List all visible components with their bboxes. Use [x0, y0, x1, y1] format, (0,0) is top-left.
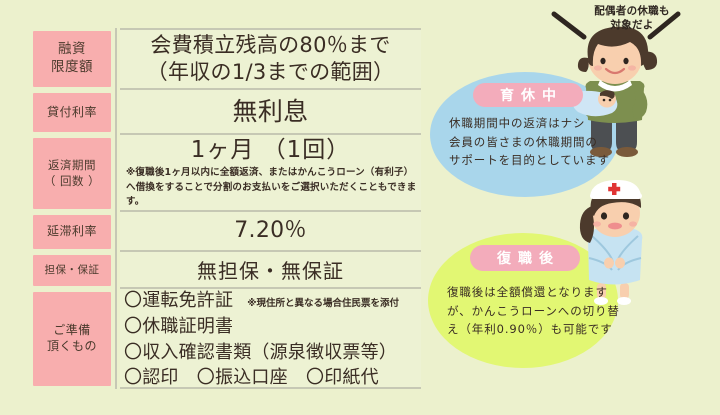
row-label-line: 限度額 [51, 59, 93, 77]
list-item: 〇収入確認書類（源泉徴収票等） [124, 340, 399, 366]
value-line: 無利息 [233, 96, 309, 128]
row-label-loan-limit: 融資 限度額 [33, 31, 111, 87]
row-value-collateral: 無担保・無保証 [120, 252, 421, 289]
table-row-collateral: 担保・保証 無担保・無保証 [33, 252, 421, 289]
badge-ikukyu: 育休中 [473, 83, 583, 107]
column-divider [111, 252, 120, 289]
infographic-canvas: 配偶者の休職も 対象だよ 育休中 復職後 休職期間中の返済はナシ 会員の皆さまの… [0, 0, 720, 415]
list-item: 〇休職証明書 [124, 314, 399, 340]
row-value-repayment-period: 1ヶ月 （1回） ※復職後1ヶ月以内に全額返済、またはかんこうローン（有利子）へ… [120, 135, 421, 212]
table-row-repayment-period: 返済期間 （ 回数 ） 1ヶ月 （1回） ※復職後1ヶ月以内に全額返済、またはか… [33, 135, 421, 212]
badge-fukushoku: 復職後 [470, 245, 580, 271]
fukushoku-line-3: え（年利0.90％）も可能です [447, 320, 647, 339]
value-note: ※復職後1ヶ月以内に全額返済、またはかんこうローン（有利子）へ借換をすることで分… [124, 166, 417, 209]
ikukyu-line-1: 休職期間中の返済はナシ [449, 114, 649, 133]
column-divider [111, 135, 120, 212]
row-label-line: 返済期間 [48, 158, 96, 173]
red-cross-icon [608, 183, 620, 195]
fukushoku-bubble-text: 復職後は全額償還となります が、かんこうローンへの切り替 え（年利0.90％）も… [447, 283, 647, 339]
list-item: 〇認印 〇振込口座 〇印紙代 [124, 365, 399, 391]
callout-line-2: 対象だよ [552, 18, 712, 32]
column-divider [111, 289, 120, 389]
callout-text: 配偶者の休職も 対象だよ [552, 4, 712, 33]
row-label-line: 融資 [58, 41, 86, 59]
table-row-required-documents: ご準備 頂くもの 〇運転免許証※現住所と異なる場合住民票を添付 〇休職証明書 〇… [33, 289, 421, 389]
row-value-required-documents: 〇運転免許証※現住所と異なる場合住民票を添付 〇休職証明書 〇収入確認書類（源泉… [120, 289, 421, 389]
table-row-late-fee: 延滞利率 7.20％ [33, 212, 421, 252]
ikukyu-bubble-text: 休職期間中の返済はナシ 会員の皆さまの休職期間の サポートを目的としています [449, 114, 649, 170]
row-label-line: 担保・保証 [45, 264, 100, 278]
ikukyu-line-3: サポートを目的としています [449, 151, 649, 170]
value-line: 無担保・無保証 [197, 255, 344, 284]
table-row-interest-rate: 貸付利率 無利息 [33, 90, 421, 135]
value-line: （年収の1/3までの範囲） [147, 59, 395, 86]
column-divider [111, 28, 120, 90]
column-divider [111, 212, 120, 252]
row-label-line: 頂くもの [47, 339, 97, 355]
value-line: 7.20％ [234, 217, 307, 245]
row-label-line: 貸付利率 [47, 105, 97, 121]
ikukyu-line-2: 会員の皆さまの休職期間の [449, 133, 649, 152]
row-label-line: 延滞利率 [47, 224, 97, 240]
row-label-line: ご準備 [53, 323, 91, 339]
row-label-collateral: 担保・保証 [33, 255, 111, 286]
table-row-loan-limit: 融資 限度額 会費積立残高の80％まで （年収の1/3までの範囲） [33, 28, 421, 90]
callout-line-1: 配偶者の休職も [552, 4, 712, 18]
loan-terms-table: 融資 限度額 会費積立残高の80％まで （年収の1/3までの範囲） 貸付利率 無… [33, 28, 421, 389]
row-label-interest-rate: 貸付利率 [33, 93, 111, 132]
row-label-repayment-period: 返済期間 （ 回数 ） [33, 138, 111, 209]
required-documents-list: 〇運転免許証※現住所と異なる場合住民票を添付 〇休職証明書 〇収入確認書類（源泉… [124, 288, 399, 390]
row-label-required-documents: ご準備 頂くもの [33, 292, 111, 386]
row-value-late-fee: 7.20％ [120, 212, 421, 252]
row-label-late-fee: 延滞利率 [33, 215, 111, 249]
value-line: 会費積立残高の80％まで [150, 32, 390, 59]
fukushoku-line-1: 復職後は全額償還となります [447, 283, 647, 302]
list-item: 〇運転免許証※現住所と異なる場合住民票を添付 [124, 288, 399, 314]
fukushoku-line-2: が、かんこうローンへの切り替 [447, 302, 647, 321]
value-line: 1ヶ月 （1回） [191, 136, 351, 165]
row-label-line: （ 回数 ） [44, 174, 100, 189]
row-value-interest-rate: 無利息 [120, 90, 421, 135]
row-value-loan-limit: 会費積立残高の80％まで （年収の1/3までの範囲） [120, 28, 421, 90]
column-divider [111, 90, 120, 135]
